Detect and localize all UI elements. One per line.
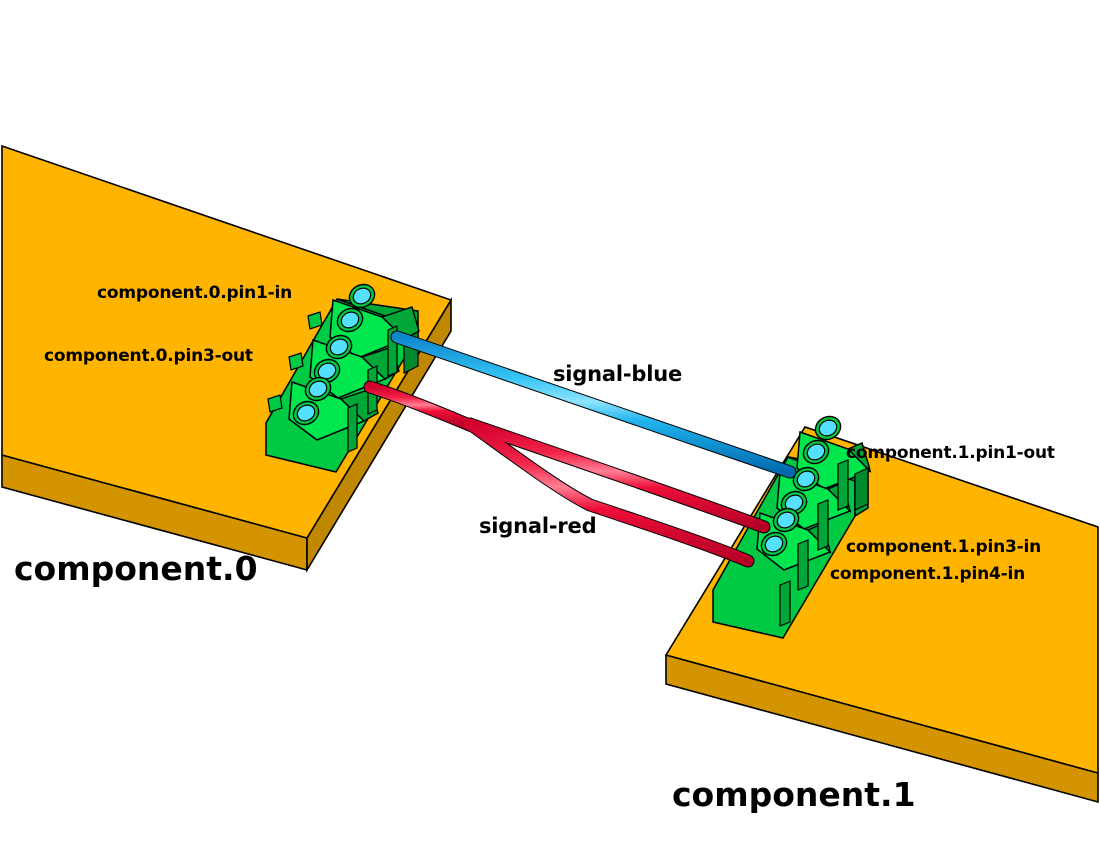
signal-label-blue: signal-blue xyxy=(553,364,682,385)
scene-svg xyxy=(0,0,1100,850)
pin-label-component-0-pin3-out: component.0.pin3-out xyxy=(44,348,253,365)
wire-signal-blue[interactable] xyxy=(397,337,790,472)
signal-label-red: signal-red xyxy=(479,516,596,537)
wire-blue-core xyxy=(397,337,790,472)
pin-label-component-1-pin4-in: component.1.pin4-in xyxy=(830,566,1025,583)
pin-label-component-1-pin3-in: component.1.pin3-in xyxy=(846,539,1041,556)
diagram-canvas: component.0.pin1-in component.0.pin3-out… xyxy=(0,0,1100,850)
board-label-component-1: component.1 xyxy=(672,778,916,811)
board-label-component-0: component.0 xyxy=(14,552,258,585)
pin-label-component-0-pin1-in: component.0.pin1-in xyxy=(97,285,292,302)
pin-label-component-1-pin1-out: component.1.pin1-out xyxy=(846,445,1055,462)
